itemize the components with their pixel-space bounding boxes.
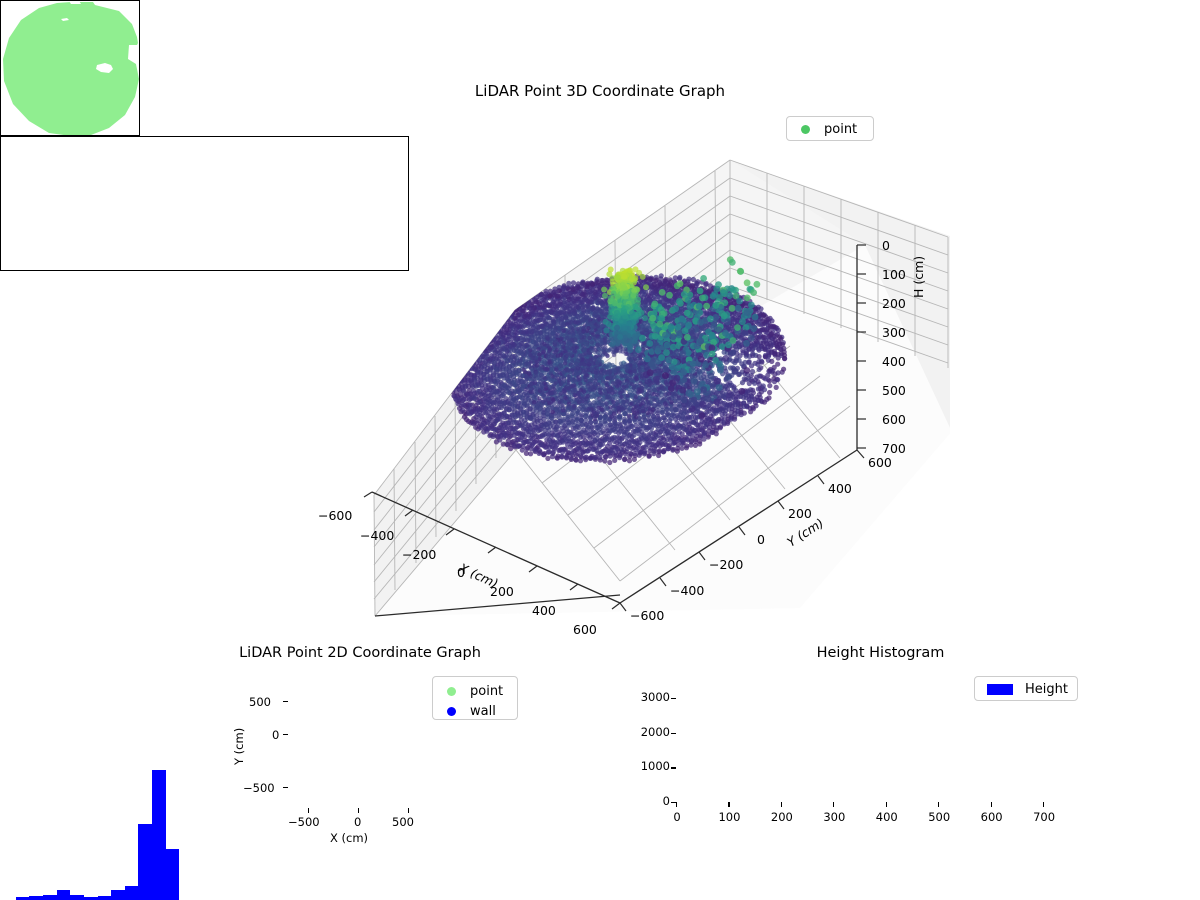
histogram-xtick-mark [938,802,939,807]
legend-label: Height [1025,682,1068,697]
histogram-bar [125,886,139,900]
histogram-bar [138,824,152,900]
histogram-ytick-mark [671,802,676,803]
legend-item-height: Height [983,681,1069,698]
histogram-xtick-mark [991,802,992,807]
histogram-xtick: 200 [770,810,794,824]
histogram-bars [0,0,1200,900]
histogram-xtick-mark [728,802,729,807]
histogram-ytick: 1000 [628,759,670,773]
histogram-xtick: 400 [875,810,899,824]
histogram-xtick: 500 [927,810,951,824]
histogram-ytick: 0 [628,794,670,808]
histogram-bar [57,890,71,900]
histogram-xtick: 0 [665,810,689,824]
histogram-xtick: 100 [717,810,741,824]
histogram-legend[interactable]: Height [974,676,1078,701]
histogram-xtick-mark [781,802,782,807]
histogram-ytick-mark [671,733,676,734]
histogram-xtick-mark [833,802,834,807]
histogram-bar [98,896,112,900]
histogram-bar [43,895,57,900]
histogram-xtick-mark [886,802,887,807]
histogram-xtick: 700 [1032,810,1056,824]
matplotlib-figure: LiDAR Point 3D Coordinate Graph point [0,0,1200,900]
histogram-bar [70,895,84,900]
histogram-ytick-mark [671,698,676,699]
histogram-bar [29,896,43,900]
histogram-bar [152,770,166,900]
histogram-ytick-mark [671,767,676,768]
histogram-xtick-mark [1043,802,1044,807]
histogram-axes[interactable] [0,136,409,271]
histogram-bar [111,890,125,900]
histogram-ytick: 2000 [628,725,670,739]
height-patch-icon [987,684,1013,695]
histogram-xtick: 300 [822,810,846,824]
histogram-xtick: 600 [980,810,1004,824]
histogram-ytick: 3000 [628,690,670,704]
histogram-bar [166,849,180,900]
histogram-xtick-mark [676,802,677,807]
